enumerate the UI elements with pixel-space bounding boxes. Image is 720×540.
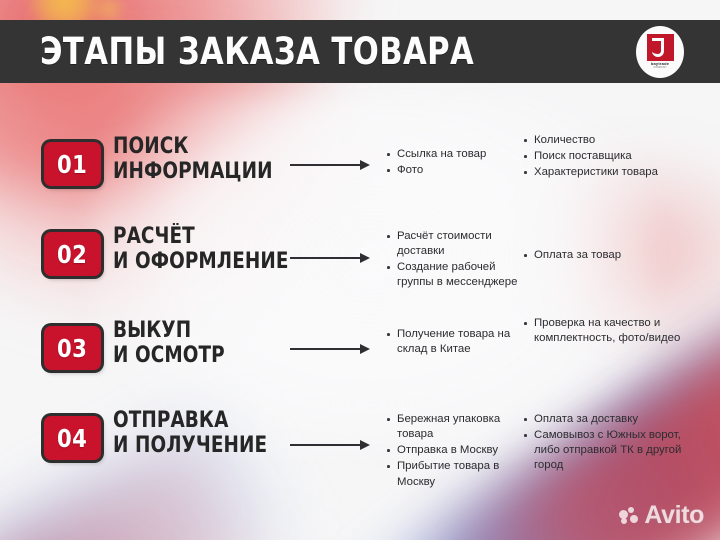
step-number-badge: 03 (44, 326, 101, 370)
steps-list: 01 ПОИСК ИНФОРМАЦИИ Ссылка на товар Фото… (0, 0, 720, 540)
step-right-column: Количество Поиск поставщика Характеристи… (523, 133, 703, 181)
step-number: 02 (57, 240, 87, 269)
step-title-line2: ИНФОРМАЦИИ (113, 159, 273, 184)
list-item: Оплата за доставку (523, 412, 703, 427)
list-item: Проверка на качество и комплектность, фо… (523, 316, 703, 346)
step-right-column: Оплата за доставку Самовывоз с Южных вор… (523, 412, 703, 475)
step-middle-column: Бережная упаковка товара Отправка в Моск… (386, 412, 518, 491)
step-title-line2: И ОФОРМЛЕНИЕ (113, 249, 289, 274)
step-title: ОТПРАВКА И ПОЛУЧЕНИЕ (113, 408, 267, 458)
flow-arrow-icon (290, 444, 370, 446)
step-number-badge: 04 (44, 416, 101, 460)
list-item: Поиск поставщика (523, 149, 703, 164)
list-item: Фото (386, 163, 518, 178)
step-right-column: Проверка на качество и комплектность, фо… (523, 316, 703, 347)
step-title-line1: РАСЧЁТ (113, 224, 195, 249)
step-middle-column: Получение товара на склад в Китае (386, 327, 518, 358)
step-middle-column: Расчёт стоимости доставки Создание рабоч… (386, 229, 518, 292)
list-item: Отправка в Москву (386, 443, 518, 458)
step-number: 04 (57, 424, 87, 453)
step-title-line2: И ОСМОТР (113, 343, 225, 368)
step-number-badge: 02 (44, 232, 101, 276)
step-title-line1: ПОИСК (113, 134, 188, 159)
step-right-column: Оплата за товар (523, 248, 703, 264)
flow-arrow-icon (290, 164, 370, 166)
list-item: Прибытие товара в Москву (386, 459, 518, 489)
flow-arrow-icon (290, 257, 370, 259)
step-number: 03 (57, 334, 87, 363)
step-number: 01 (57, 150, 87, 179)
list-item: Количество (523, 133, 703, 148)
flow-arrow-icon (290, 348, 370, 350)
list-item: Оплата за товар (523, 248, 703, 263)
step-title-line2: И ПОЛУЧЕНИЕ (113, 433, 267, 458)
step-number-badge: 01 (44, 142, 101, 186)
step-middle-column: Ссылка на товар Фото (386, 147, 518, 179)
list-item: Ссылка на товар (386, 147, 518, 162)
step-title-line1: ВЫКУП (113, 318, 191, 343)
list-item: Расчёт стоимости доставки (386, 229, 518, 259)
list-item: Характеристики товара (523, 165, 703, 180)
step-title: РАСЧЁТ И ОФОРМЛЕНИЕ (113, 224, 289, 274)
step-title: ПОИСК ИНФОРМАЦИИ (113, 134, 273, 184)
step-title-line1: ОТПРАВКА (113, 408, 228, 433)
avito-watermark: Avito (619, 503, 704, 528)
avito-wordmark: Avito (644, 503, 704, 528)
list-item: Бережная упаковка товара (386, 412, 518, 442)
list-item: Получение товара на склад в Китае (386, 327, 518, 357)
list-item: Самовывоз с Южных ворот, либо отправкой … (523, 428, 703, 473)
step-title: ВЫКУП И ОСМОТР (113, 318, 225, 368)
list-item: Создание рабочей группы в мессенджере (386, 260, 518, 290)
avito-dots-icon (619, 507, 639, 525)
poster: ЭТАПЫ ЗАКАЗА ТОВАРА baytrade COMPANY 01 … (0, 0, 720, 540)
